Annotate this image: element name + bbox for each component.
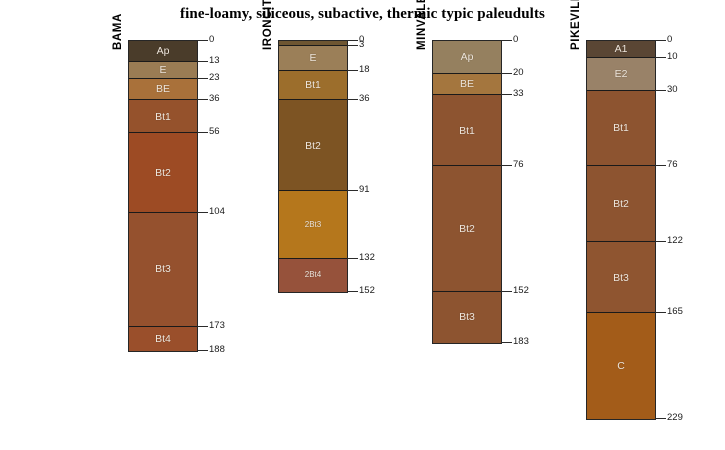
- horizon-bt1[interactable]: Bt1: [279, 71, 347, 101]
- depth-tick: [197, 350, 208, 351]
- horizon-label: BE: [433, 79, 501, 90]
- horizon-label: Bt1: [129, 112, 197, 123]
- depth-value: 165: [667, 307, 683, 317]
- depth-value: 33: [513, 89, 524, 99]
- depth-tick: [655, 165, 666, 166]
- horizon-be[interactable]: BE: [433, 74, 501, 95]
- depth-tick: [655, 312, 666, 313]
- horizon-label: E: [129, 65, 197, 76]
- pedon-name-label: PIKEVILLE: [570, 0, 582, 50]
- depth-value: 76: [667, 160, 678, 170]
- pedon-name-label: MINVALE: [416, 0, 428, 50]
- horizon-label: Bt3: [587, 273, 655, 284]
- horizon-bt1[interactable]: Bt1: [433, 95, 501, 166]
- depth-tick: [347, 190, 358, 191]
- depth-tick: [501, 94, 512, 95]
- horizon-label: 2Bt3: [279, 221, 347, 229]
- depth-value: 36: [359, 94, 370, 104]
- depth-value: 91: [359, 185, 370, 195]
- horizon-label: E2: [587, 69, 655, 80]
- depth-tick: [197, 132, 208, 133]
- depth-value: 173: [209, 321, 225, 331]
- depth-value: 76: [513, 160, 524, 170]
- horizon-a1[interactable]: A1: [587, 41, 655, 58]
- horizon-label: Bt1: [433, 126, 501, 137]
- horizon-e2[interactable]: E2: [587, 58, 655, 91]
- horizon-bt2[interactable]: Bt2: [129, 133, 197, 212]
- horizon-bt1[interactable]: Bt1: [129, 100, 197, 133]
- pedon-minvale[interactable]: MINVALEApBEBt1Bt2Bt30203376152183: [392, 0, 562, 450]
- depth-tick: [501, 165, 512, 166]
- horizon-label: BE: [129, 84, 197, 95]
- depth-value: 104: [209, 207, 225, 217]
- horizon-bt3[interactable]: Bt3: [587, 242, 655, 313]
- depth-value: 56: [209, 127, 220, 137]
- horizon-bt2[interactable]: Bt2: [587, 166, 655, 242]
- depth-value: 122: [667, 236, 683, 246]
- depth-value: 0: [209, 35, 214, 45]
- pedon-bama[interactable]: BAMAApEBEBt1Bt2Bt3Bt4013233656104173188: [88, 0, 258, 450]
- soil-profile-figure: fine-loamy, siliceous, subactive, thermi…: [0, 0, 725, 450]
- depth-tick: [655, 418, 666, 419]
- depth-tick: [501, 73, 512, 74]
- horizon-label: Bt4: [129, 334, 197, 345]
- depth-value: 13: [209, 56, 220, 66]
- depth-tick: [347, 70, 358, 71]
- depth-value: 188: [209, 345, 225, 355]
- depth-value: 3: [359, 40, 364, 50]
- depth-tick: [197, 40, 208, 41]
- depth-value: 229: [667, 413, 683, 423]
- depth-tick: [347, 291, 358, 292]
- depth-tick: [197, 212, 208, 213]
- horizon-e[interactable]: E: [279, 46, 347, 71]
- profile-body: ApEBEBt1Bt2Bt3Bt4: [128, 40, 198, 352]
- horizon-bt2[interactable]: Bt2: [279, 100, 347, 191]
- horizon-label: Bt3: [129, 264, 197, 275]
- depth-value: 152: [359, 286, 375, 296]
- depth-tick: [197, 78, 208, 79]
- depth-tick: [501, 40, 512, 41]
- horizon-bt1[interactable]: Bt1: [587, 91, 655, 167]
- profile-body: AEBt1Bt22Bt32Bt4: [278, 40, 348, 293]
- depth-value: 0: [667, 35, 672, 45]
- horizon-label: Ap: [129, 46, 197, 57]
- depth-tick: [501, 291, 512, 292]
- horizon-label: Bt2: [587, 199, 655, 210]
- depth-value: 10: [667, 52, 678, 62]
- horizon-e[interactable]: E: [129, 62, 197, 79]
- depth-value: 0: [513, 35, 518, 45]
- depth-value: 183: [513, 337, 529, 347]
- depth-tick: [347, 40, 358, 41]
- depth-tick: [655, 241, 666, 242]
- horizon-label: Bt2: [279, 141, 347, 152]
- horizon-label: Bt2: [129, 168, 197, 179]
- depth-value: 132: [359, 253, 375, 263]
- depth-tick: [347, 99, 358, 100]
- pedon-pikeville[interactable]: PIKEVILLEA1E2Bt1Bt2Bt3C0103076122165229: [546, 0, 716, 450]
- horizon-label: Bt3: [433, 312, 501, 323]
- horizon-be[interactable]: BE: [129, 79, 197, 100]
- depth-tick: [347, 45, 358, 46]
- horizon-label: Bt1: [279, 80, 347, 91]
- pedon-name-label: IRONCITY: [262, 0, 274, 50]
- horizon-bt4[interactable]: Bt4: [129, 327, 197, 352]
- horizon-bt3[interactable]: Bt3: [433, 292, 501, 343]
- horizon-bt2[interactable]: Bt2: [433, 166, 501, 291]
- depth-tick: [655, 40, 666, 41]
- depth-tick: [197, 99, 208, 100]
- horizon-2bt4[interactable]: 2Bt4: [279, 259, 347, 292]
- depth-tick: [197, 61, 208, 62]
- profile-body: ApBEBt1Bt2Bt3: [432, 40, 502, 344]
- depth-value: 152: [513, 286, 529, 296]
- horizon-ap[interactable]: Ap: [129, 41, 197, 62]
- horizon-label: E: [279, 53, 347, 64]
- pedon-ironcity[interactable]: IRONCITYAEBt1Bt22Bt32Bt403183691132152: [238, 0, 408, 450]
- depth-value: 20: [513, 68, 524, 78]
- horizon-label: Bt2: [433, 224, 501, 235]
- horizon-bt3[interactable]: Bt3: [129, 213, 197, 327]
- horizon-label: C: [587, 361, 655, 372]
- profile-body: A1E2Bt1Bt2Bt3C: [586, 40, 656, 420]
- horizon-label: A1: [587, 44, 655, 55]
- pedon-name-label: BAMA: [112, 13, 124, 50]
- depth-value: 36: [209, 94, 220, 104]
- depth-value: 30: [667, 85, 678, 95]
- depth-tick: [655, 90, 666, 91]
- horizon-label: Bt1: [587, 123, 655, 134]
- horizon-label: Ap: [433, 52, 501, 63]
- horizon-label: 2Bt4: [279, 271, 347, 279]
- depth-tick: [655, 57, 666, 58]
- depth-value: 18: [359, 65, 370, 75]
- depth-tick: [197, 326, 208, 327]
- depth-tick: [347, 258, 358, 259]
- horizon-ap[interactable]: Ap: [433, 41, 501, 74]
- depth-tick: [501, 342, 512, 343]
- horizon-2bt3[interactable]: 2Bt3: [279, 191, 347, 259]
- horizon-c[interactable]: C: [587, 313, 655, 419]
- depth-value: 23: [209, 73, 220, 83]
